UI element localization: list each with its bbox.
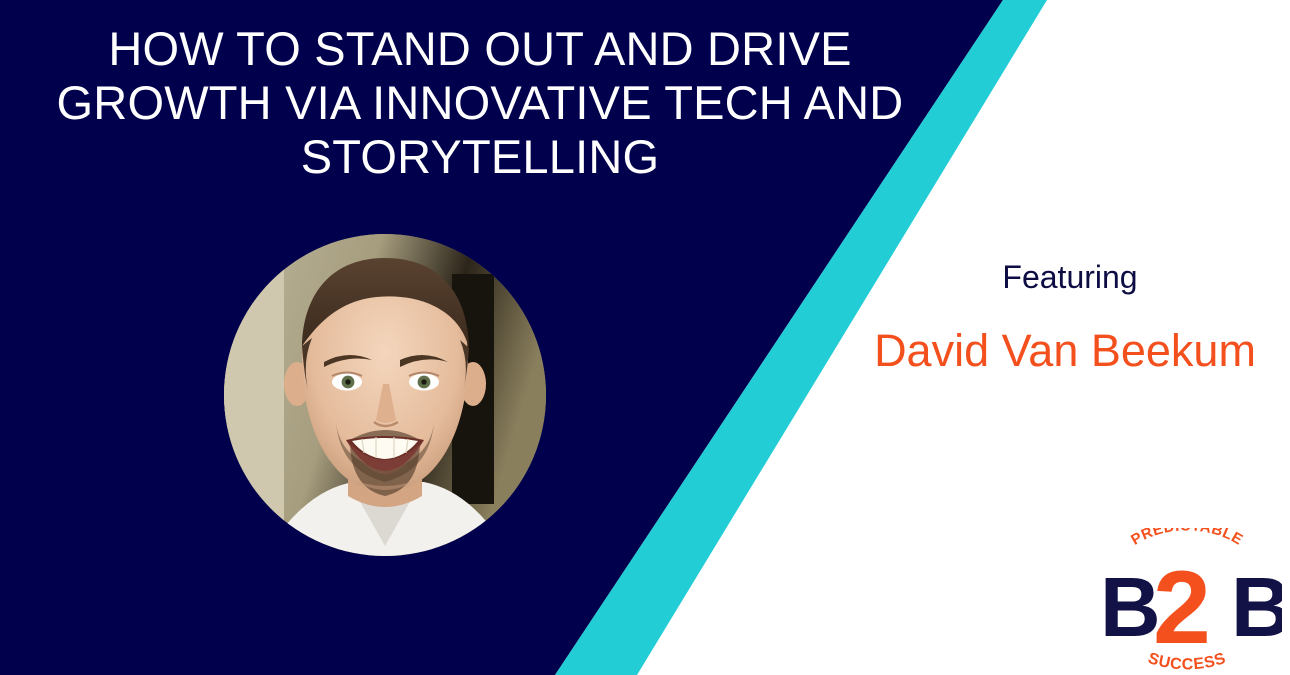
presentation-slide: HOW TO STAND OUT AND DRIVE GROWTH VIA IN…	[0, 0, 1290, 675]
page-title: HOW TO STAND OUT AND DRIVE GROWTH VIA IN…	[40, 22, 920, 184]
svg-text:PREDICTABLE: PREDICTABLE	[1128, 528, 1246, 549]
logo-letter-b-left: B	[1100, 560, 1161, 654]
speaker-portrait	[224, 234, 546, 556]
logo-numeral-two: 2	[1153, 550, 1211, 666]
featuring-label: Featuring	[880, 258, 1260, 296]
predictable-b2b-success-logo[interactable]: PREDICTABLE B B 2 SUCCESS	[1092, 528, 1282, 670]
logo-top-text: PREDICTABLE	[1128, 528, 1246, 549]
speaker-name: David Van Beekum	[845, 325, 1285, 377]
logo-letter-b-right: B	[1231, 560, 1282, 654]
